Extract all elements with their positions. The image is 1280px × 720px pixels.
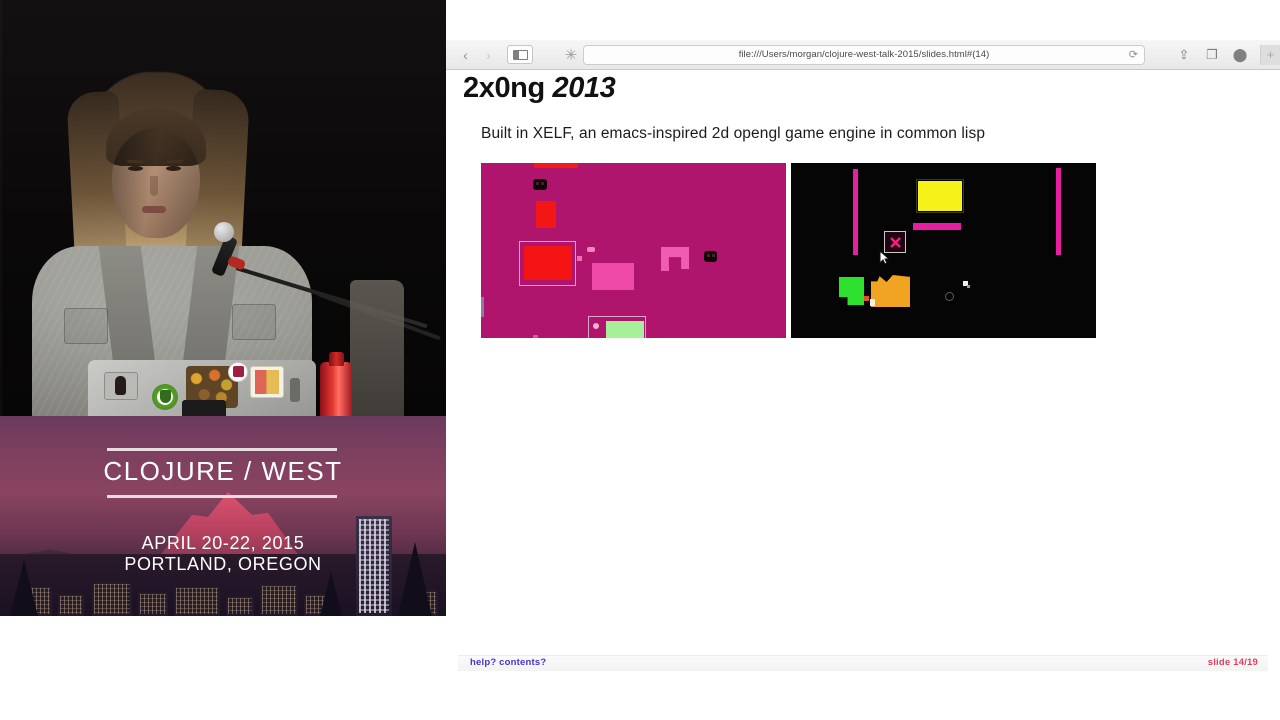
browser-panel: ‹ › ✳ file:///Users/morgan/clojure-west-… xyxy=(446,0,1280,720)
browser-toolbar: ‹ › ✳ file:///Users/morgan/clojure-west-… xyxy=(446,40,1280,70)
slide-footer: help? contents? slide 14/19 xyxy=(446,649,1280,720)
close-x-icon xyxy=(890,237,901,248)
share-icon[interactable]: ⇪ xyxy=(1171,45,1197,65)
game-screenshot-right xyxy=(791,163,1096,338)
screen-root: CLOJURE / WEST APRIL 20-22, 2015 PORTLAN… xyxy=(0,0,1280,720)
slide-counter: slide 14/19 xyxy=(1208,657,1258,668)
new-tab-button[interactable]: + xyxy=(1260,45,1280,65)
microphone-icon xyxy=(214,222,234,242)
banner-location: PORTLAND, OREGON xyxy=(0,554,446,575)
slide-title-main: 2x0ng xyxy=(463,72,545,104)
tabs-overview-icon[interactable]: ❐ xyxy=(1199,45,1225,65)
footer-divider xyxy=(458,655,1268,671)
help-contents-link[interactable]: help? contents? xyxy=(470,657,546,668)
page-title: 2x0ng 2013 xyxy=(463,72,615,105)
screen-share-top-margin xyxy=(446,0,1280,40)
water-bottle-cap xyxy=(329,352,344,366)
speaker-panel: CLOJURE / WEST APRIL 20-22, 2015 PORTLAN… xyxy=(0,0,446,720)
back-button[interactable]: ‹ xyxy=(455,46,476,64)
stage-equipment xyxy=(350,280,404,416)
banner-date: APRIL 20-22, 2015 xyxy=(0,533,446,554)
banner-title: CLOJURE / WEST xyxy=(0,456,446,487)
sidebar-toggle-button[interactable] xyxy=(507,45,533,64)
address-bar[interactable]: file:///Users/morgan/clojure-west-talk-2… xyxy=(583,45,1145,65)
downloads-icon[interactable]: ⬤ xyxy=(1227,45,1253,65)
water-bottle xyxy=(320,362,352,416)
slide-title-year: 2013 xyxy=(553,72,616,104)
url-text: file:///Users/morgan/clojure-west-talk-2… xyxy=(739,49,990,60)
slide-page: 2x0ng 2013 Built in XELF, an emacs-inspi… xyxy=(446,71,1280,649)
favorites-icon[interactable]: ✳ xyxy=(559,46,583,64)
reload-icon[interactable]: ⟳ xyxy=(1129,48,1138,61)
mouse-cursor-icon xyxy=(879,251,891,265)
screenshot-row xyxy=(481,163,1101,338)
banner-divider-top xyxy=(107,448,337,451)
conference-banner xyxy=(0,416,446,616)
slide-subtitle: Built in XELF, an emacs-inspired 2d open… xyxy=(481,125,985,143)
banner-divider-bottom xyxy=(107,495,337,498)
sidebar-icon xyxy=(513,50,528,60)
game-screenshot-left xyxy=(481,163,786,338)
sponsor-bar: factual SparX @WalmartLabs xyxy=(0,616,446,720)
forward-button[interactable]: › xyxy=(478,46,499,64)
speaker-video xyxy=(0,0,446,416)
